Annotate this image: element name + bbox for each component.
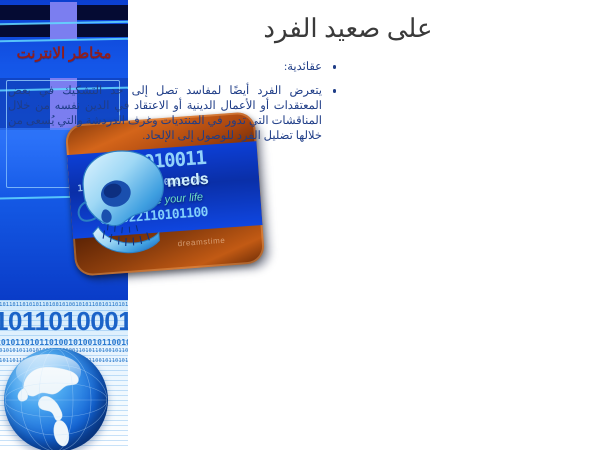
bullet-text: عقائدية: <box>284 61 322 73</box>
globe-graphic <box>4 348 108 450</box>
binary-small-text: 1010110101101001010010110010111 <box>0 338 128 347</box>
globe-binary-panel: 0101101101010110100101001010110010110101… <box>0 300 128 450</box>
bullet-list: عقائدية: يتعرض الفرد أيضًا لمفاسد تصل إل… <box>8 60 338 153</box>
presentation-slide: مخاطر الانترنت 0101101101010110100101001… <box>0 0 600 450</box>
binary-large-text: 10110100011 <box>0 306 128 337</box>
globe-highlight <box>16 354 80 389</box>
list-item: يتعرض الفرد أيضًا لمفاسد تصل إلى حد التش… <box>8 84 338 144</box>
bullet-dot-icon <box>333 89 337 93</box>
bullet-text: يتعرض الفرد أيضًا لمفاسد تصل إلى حد التش… <box>8 85 322 142</box>
page-title: على صعيد الفرد <box>118 14 578 44</box>
bullet-dot-icon <box>333 65 337 69</box>
list-item: عقائدية: <box>8 60 338 75</box>
